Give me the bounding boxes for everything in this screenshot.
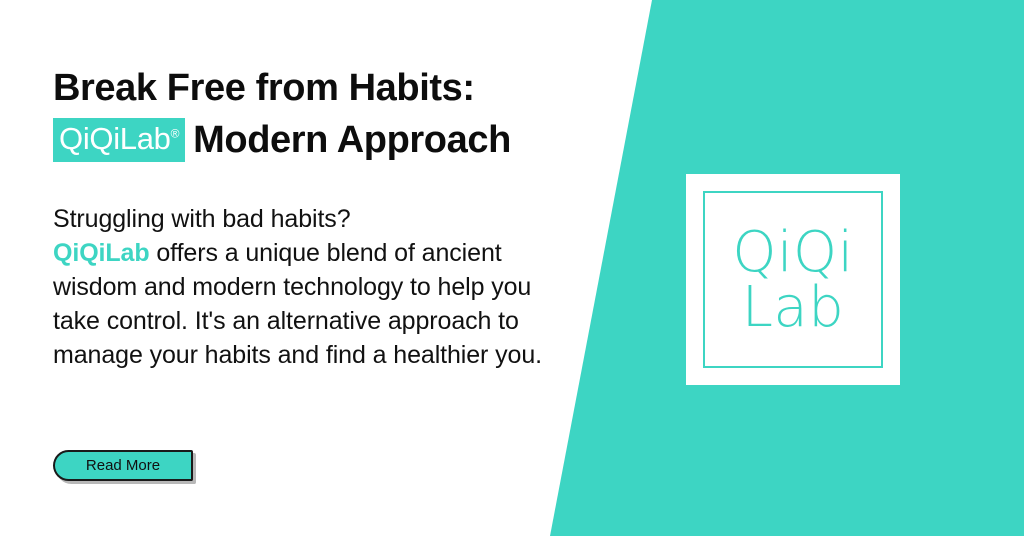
brand-inline-label: QiQiLab: [53, 239, 150, 267]
logo-card: QiQi Lab: [686, 174, 900, 385]
brand-badge-label: QiQiLab: [59, 121, 171, 156]
body-lead: Struggling with bad habits?: [53, 205, 351, 233]
headline-tail: Modern Approach: [193, 119, 511, 161]
logo-line-2: Lab: [705, 280, 881, 335]
logo-inner-frame: QiQi Lab: [703, 191, 883, 368]
headline-line-1: Break Free from Habits:: [53, 67, 475, 109]
content-column: Break Free from Habits: QiQiLab®Modern A…: [53, 0, 593, 536]
headline-line-2: QiQiLab®Modern Approach: [53, 114, 593, 166]
logo-line-1: QiQi: [705, 225, 881, 280]
brand-badge: QiQiLab®: [53, 118, 185, 162]
body-copy: Struggling with bad habits? QiQiLab offe…: [53, 202, 583, 372]
promo-banner: Break Free from Habits: QiQiLab®Modern A…: [0, 0, 1024, 536]
page-title: Break Free from Habits: QiQiLab®Modern A…: [53, 62, 593, 166]
read-more-button[interactable]: Read More: [53, 450, 193, 481]
registered-trademark-icon: ®: [171, 127, 180, 141]
logo-wordmark: QiQi Lab: [705, 225, 881, 335]
